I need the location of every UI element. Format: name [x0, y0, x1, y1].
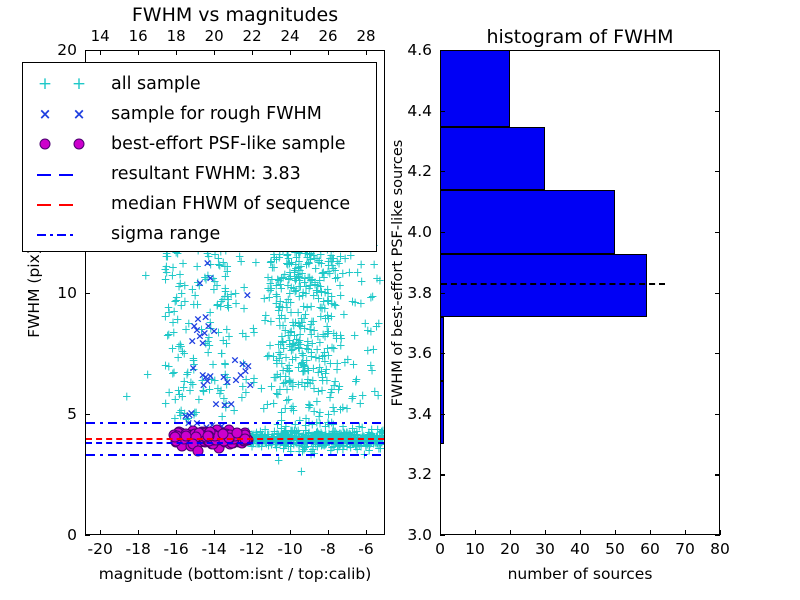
scatter-point-all: +	[287, 260, 297, 267]
scatter-point-all: +	[180, 282, 190, 289]
legend-marker-dashed-line-icon	[59, 204, 73, 206]
scatter-point-all: +	[363, 348, 373, 355]
x-bottom-tick-label: -18	[125, 540, 150, 558]
scatter-point-rough: ×	[188, 338, 197, 345]
scatter-point-rough: ×	[203, 260, 212, 267]
scatter-point-all: +	[163, 305, 173, 312]
hist-x-tick-label: 40	[570, 540, 590, 558]
scatter-point-all: +	[238, 330, 248, 337]
hist-y-tick-right	[715, 171, 720, 172]
hist-x-tick	[580, 530, 581, 535]
scatter-point-rough: ×	[227, 401, 236, 408]
scatter-point-all: +	[344, 270, 354, 277]
scatter-point-all: +	[351, 376, 361, 383]
hist-y-tick	[440, 353, 445, 354]
hist-y-tick-label: 4.6	[407, 41, 432, 59]
hist-x-tick-label: 0	[435, 540, 445, 558]
scatter-point-all: +	[328, 404, 338, 411]
legend-entry-3[interactable]: resultant FWHM: 3.83	[23, 159, 376, 189]
scatter-point-all: +	[302, 304, 312, 311]
scatter-point-all: +	[334, 384, 344, 391]
hist-y-tick-right	[715, 474, 720, 475]
scatter-point-all: +	[355, 401, 365, 408]
scatter-point-all: +	[297, 380, 307, 387]
legend-entry-4[interactable]: median FHWM of sequence	[23, 189, 376, 219]
y-left-tick-label: 0	[67, 526, 77, 544]
scatter-point-all: +	[373, 393, 383, 400]
scatter-point-all: +	[220, 360, 230, 367]
scatter-point-all: +	[161, 362, 171, 369]
hist-y-tick-label: 4.4	[407, 102, 432, 120]
scatter-point-all: +	[310, 256, 320, 263]
scatter-point-all: +	[346, 253, 356, 260]
scatter-point-all: +	[284, 396, 294, 403]
x-bottom-tick-label: -12	[239, 540, 264, 558]
hist-y-tick	[440, 293, 445, 294]
scatter-point-all: +	[188, 381, 198, 388]
hist-x-tick-label: 50	[605, 540, 625, 558]
scatter-point-rough: ×	[190, 323, 199, 330]
left-plot-title: FWHM vs magnitudes	[132, 4, 338, 26]
scatter-point-all: +	[212, 302, 222, 309]
scatter-point-all: +	[259, 405, 269, 412]
x-top-tick-label: 16	[129, 27, 148, 45]
hist-x-tick-label: 80	[710, 540, 730, 558]
legend-marker-dashdot-line-icon	[50, 234, 53, 236]
scatter-point-all: +	[294, 283, 304, 290]
legend-entry-5[interactable]: sigma range	[23, 219, 376, 249]
hist-x-tick-label: 30	[535, 540, 555, 558]
histogram-reference-line	[441, 283, 665, 285]
scatter-point-all: +	[360, 321, 370, 328]
hist-y-tick-label: 3.6	[407, 344, 432, 362]
x-top-tick-label: 20	[205, 27, 224, 45]
legend-entry-0[interactable]: ++all sample	[23, 69, 376, 99]
legend-marker-circle-icon	[74, 139, 85, 150]
scatter-point-all: +	[209, 286, 219, 293]
scatter-point-all: +	[272, 391, 282, 398]
left-ylabel: FWHM (pix)	[25, 248, 43, 338]
hist-x-tick-label: 70	[675, 540, 695, 558]
scatter-point-all: +	[372, 323, 382, 330]
hist-y-tick	[440, 474, 445, 475]
legend-entry-label: median FHWM of sequence	[111, 194, 350, 214]
scatter-point-all: +	[222, 263, 232, 270]
hist-x-tick	[685, 530, 686, 535]
scatter-point-all: +	[249, 329, 259, 336]
histogram-bar	[440, 317, 444, 381]
scatter-point-all: +	[274, 349, 284, 356]
scatter-point-all: +	[375, 278, 384, 285]
scatter-point-all: +	[323, 346, 333, 353]
hist-y-tick	[440, 171, 445, 172]
scatter-point-all: +	[269, 374, 279, 381]
scatter-point-all: +	[290, 333, 300, 340]
x-bottom-tick-label: -10	[277, 540, 302, 558]
reference-line-sigma-range-lower	[86, 454, 384, 456]
legend-marker-cross-icon: ×	[73, 109, 86, 119]
y-left-tick-label: 20	[57, 41, 77, 59]
scatter-point-rough: ×	[231, 376, 240, 383]
scatter-point-all: +	[348, 362, 358, 369]
scatter-point-rough: ×	[246, 381, 255, 388]
legend-marker-dashdot-line-icon	[70, 234, 73, 236]
scatter-point-all: +	[277, 338, 287, 345]
hist-y-tick-label: 4.2	[407, 162, 432, 180]
scatter-point-all: +	[280, 272, 290, 279]
scatter-point-all: +	[312, 288, 322, 295]
hist-x-tick-label: 20	[500, 540, 520, 558]
scatter-point-all: +	[122, 393, 132, 400]
hist-y-tick	[440, 414, 445, 415]
hist-x-tick	[545, 530, 546, 535]
x-top-tick-label: 26	[318, 27, 337, 45]
scatter-point-all: +	[161, 253, 171, 260]
scatter-point-all: +	[169, 370, 179, 377]
scatter-point-all: +	[237, 395, 247, 402]
legend-marker-circle-icon	[40, 139, 51, 150]
legend-marker-cross-icon: ×	[39, 109, 52, 119]
scatter-point-all: +	[366, 363, 376, 370]
hist-y-tick-right	[715, 50, 720, 51]
scatter-point-rough: ×	[206, 373, 215, 380]
scatter-point-all: +	[296, 468, 306, 475]
hist-y-tick	[440, 50, 445, 51]
scatter-point-all: +	[323, 259, 333, 266]
scatter-point-all: +	[217, 350, 227, 357]
legend-entry-label: sigma range	[111, 224, 220, 244]
hist-y-tick-label: 4.0	[407, 223, 432, 241]
scatter-point-all: +	[357, 278, 367, 285]
scatter-point-rough: ×	[189, 364, 198, 371]
hist-x-tick-label: 60	[640, 540, 660, 558]
scatter-point-rough: ×	[223, 379, 232, 386]
x-bottom-tick-label: -16	[163, 540, 188, 558]
scatter-point-all: +	[266, 259, 276, 266]
left-xlabel: magnitude (bottom:isnt / top:calib)	[99, 565, 372, 583]
x-top-tick-label: 24	[281, 27, 300, 45]
scatter-point-all: +	[274, 458, 284, 465]
scatter-point-rough: ×	[195, 279, 204, 286]
scatter-point-all: +	[323, 286, 333, 293]
right-ylabel: FWHM of best-effort PSF-like sources	[390, 139, 406, 406]
scatter-point-all: +	[356, 261, 366, 268]
legend-entry-2[interactable]: best-effort PSF-like sample	[23, 129, 376, 159]
legend-entry-label: resultant FWHM: 3.83	[111, 164, 301, 184]
scatter-point-all: +	[251, 259, 261, 266]
hist-y-tick-label: 3.2	[407, 465, 432, 483]
hist-y-tick-right	[715, 414, 720, 415]
y-left-tick	[85, 535, 90, 536]
scatter-point-all: +	[317, 270, 327, 277]
legend-marker-dashdot-line-icon	[57, 234, 66, 236]
legend-entry-label: sample for rough FWHM	[111, 104, 322, 124]
scatter-point-all: +	[313, 389, 323, 396]
scatter-point-all: +	[178, 349, 188, 356]
x-bottom-tick-label: -8	[320, 540, 335, 558]
hist-x-tick	[650, 530, 651, 535]
hist-y-tick	[440, 111, 445, 112]
scatter-point-all: +	[284, 368, 294, 375]
scatter-point-all: +	[222, 340, 232, 347]
scatter-point-all: +	[305, 402, 315, 409]
scatter-point-all: +	[309, 328, 319, 335]
legend-marker-dashed-line-icon	[37, 174, 51, 176]
scatter-point-rough: ×	[206, 274, 215, 281]
hist-x-tick	[510, 530, 511, 535]
scatter-point-all: +	[369, 262, 379, 269]
scatter-point-all: +	[313, 369, 323, 376]
scatter-point-all: +	[189, 301, 199, 308]
y-left-tick-label: 5	[67, 405, 77, 423]
hist-x-tick	[720, 530, 721, 535]
scatter-point-all: +	[239, 305, 249, 312]
hist-x-tick	[475, 530, 476, 535]
scatter-point-all: +	[368, 293, 378, 300]
legend-entry-1[interactable]: ××sample for rough FWHM	[23, 99, 376, 129]
histogram-bar	[440, 50, 510, 127]
x-top-tick-label: 18	[167, 27, 186, 45]
scatter-point-rough: ×	[181, 413, 190, 420]
scatter-point-all: +	[208, 362, 218, 369]
scatter-point-all: +	[306, 349, 316, 356]
histogram-bar	[440, 190, 615, 254]
reference-line-median-fhwm-of-sequence	[86, 438, 384, 440]
right-xlabel: number of sources	[508, 565, 653, 583]
histogram-bar	[440, 381, 444, 444]
hist-y-tick-right	[715, 232, 720, 233]
scatter-point-all: +	[261, 313, 271, 320]
scatter-point-all: +	[357, 425, 367, 432]
scatter-point-all: +	[256, 385, 266, 392]
hist-y-tick-label: 3.8	[407, 284, 432, 302]
legend-entry-label: best-effort PSF-like sample	[111, 134, 346, 154]
scatter-point-all: +	[163, 333, 173, 340]
scatter-point-all: +	[265, 288, 275, 295]
scatter-point-rough: ×	[210, 328, 219, 335]
right-plot-title: histogram of FWHM	[486, 26, 673, 48]
x-top-tick-label: 14	[91, 27, 110, 45]
scatter-point-all: +	[350, 333, 360, 340]
y-left-tick-label: 10	[57, 284, 77, 302]
hist-y-tick-right	[715, 293, 720, 294]
scatter-point-all: +	[347, 298, 357, 305]
hist-y-tick	[440, 535, 445, 536]
scatter-point-all: +	[326, 313, 336, 320]
scatter-point-all: +	[236, 259, 246, 266]
x-bottom-tick-label: -6	[358, 540, 373, 558]
legend-entry-label: all sample	[111, 74, 201, 94]
scatter-point-all: +	[339, 311, 349, 318]
hist-y-tick-right	[715, 535, 720, 536]
scatter-point-all: +	[161, 401, 171, 408]
x-top-tick-label: 28	[356, 27, 375, 45]
scatter-point-all: +	[264, 353, 274, 360]
legend-marker-dashed-line-icon	[59, 174, 73, 176]
x-bottom-tick-label: -14	[201, 540, 226, 558]
scatter-point-rough: ×	[230, 357, 239, 364]
scatter-point-all: +	[257, 444, 267, 451]
scatter-point-all: +	[274, 315, 284, 322]
scatter-point-all: +	[178, 260, 188, 267]
scatter-point-all: +	[141, 272, 151, 279]
legend-marker-plus-icon: +	[38, 79, 52, 89]
scatter-point-all: +	[283, 296, 293, 303]
plot-legend: ++all sample××sample for rough FWHMbest-…	[22, 62, 377, 252]
scatter-point-all: +	[336, 335, 346, 342]
scatter-point-all: +	[192, 263, 202, 270]
scatter-point-all: +	[322, 378, 332, 385]
hist-y-tick-right	[715, 353, 720, 354]
hist-x-tick	[615, 530, 616, 535]
scatter-point-all: +	[263, 274, 273, 281]
scatter-point-rough: ×	[243, 291, 252, 298]
hist-y-tick-label: 3.4	[407, 405, 432, 423]
scatter-point-all: +	[167, 273, 177, 280]
scatter-point-psf	[170, 431, 181, 442]
x-bottom-tick-label: -20	[88, 540, 113, 558]
scatter-point-all: +	[333, 274, 343, 281]
scatter-point-all: +	[226, 291, 236, 298]
scatter-point-all: +	[289, 407, 299, 414]
scatter-point-all: +	[213, 386, 223, 393]
figure-canvas: FWHM vs magnitudes1416182022242628-20-18…	[0, 0, 800, 600]
legend-marker-dashed-line-icon	[37, 204, 51, 206]
scatter-point-rough: ×	[198, 340, 207, 347]
legend-marker-dashdot-line-icon	[37, 234, 46, 236]
hist-x-tick-label: 10	[465, 540, 485, 558]
scatter-point-all: +	[299, 316, 309, 323]
scatter-point-all: +	[342, 405, 352, 412]
hist-y-tick-label: 3.0	[407, 526, 432, 544]
histogram-bar	[440, 127, 545, 190]
scatter-point-all: +	[276, 285, 286, 292]
scatter-point-all: +	[170, 396, 180, 403]
reference-line-sigma-range-upper	[86, 422, 384, 424]
reference-line-resultant-fwhm	[86, 442, 384, 444]
scatter-point-all: +	[143, 371, 153, 378]
legend-marker-plus-icon: +	[72, 79, 86, 89]
hist-y-tick-right	[715, 111, 720, 112]
x-top-tick-label: 22	[243, 27, 262, 45]
hist-y-tick	[440, 232, 445, 233]
